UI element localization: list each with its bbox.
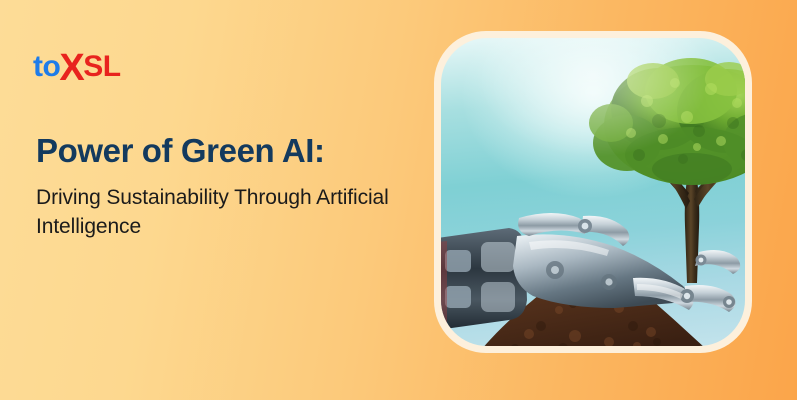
- tree-canopy: [589, 58, 745, 185]
- brand-logo[interactable]: toXSL: [33, 45, 121, 83]
- logo-text-sl: SL: [83, 52, 120, 82]
- robot-fingers: [633, 278, 736, 312]
- logo-text-x: X: [59, 49, 84, 87]
- robot-forearm: [441, 228, 527, 330]
- text-block: Power of Green AI: Driving Sustainabilit…: [36, 133, 416, 242]
- promo-banner: toXSL Power of Green AI: Driving Sustain…: [0, 0, 797, 400]
- robot-pinky: [695, 250, 740, 274]
- robotic-hand: [441, 190, 745, 340]
- page-subtitle: Driving Sustainability Through Artificia…: [36, 184, 416, 242]
- logo-text-to: to: [33, 52, 60, 82]
- hero-image-card: [434, 31, 752, 353]
- page-title: Power of Green AI:: [36, 133, 416, 170]
- hero-photo: [441, 38, 745, 346]
